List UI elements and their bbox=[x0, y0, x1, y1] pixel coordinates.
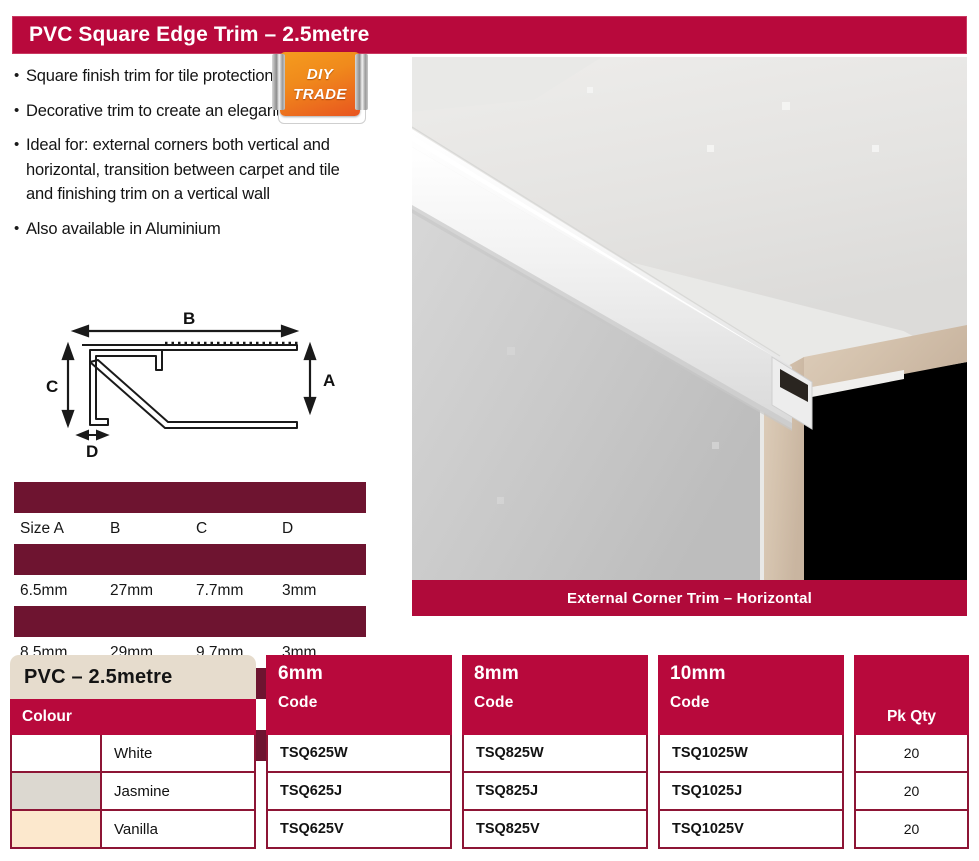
table-rule bbox=[14, 544, 366, 575]
diy-trade-badge: DIY TRADE bbox=[272, 52, 368, 124]
badge-trade-label: TRADE bbox=[272, 86, 368, 103]
product-code-cell[interactable]: TSQ825V bbox=[462, 811, 648, 849]
order-table-6mm-block: 6mm Code TSQ625W TSQ625J TSQ625V bbox=[266, 655, 452, 851]
feature-text: Decorative trim to create an elegant loo… bbox=[26, 99, 314, 124]
product-code-cell[interactable]: TSQ1025J bbox=[658, 773, 844, 811]
product-code-cell[interactable]: TSQ625V bbox=[266, 811, 452, 849]
product-photo bbox=[412, 57, 967, 580]
table-row: 6.5mm 27mm 7.7mm 3mm bbox=[14, 575, 366, 606]
trim-cross-section bbox=[82, 345, 297, 428]
colour-name: Vanilla bbox=[102, 811, 256, 849]
code-sublabel: Code bbox=[658, 685, 844, 712]
product-code-cell[interactable]: TSQ825W bbox=[462, 735, 648, 773]
code-sublabel: Code bbox=[266, 685, 452, 712]
code-sublabel: Code bbox=[462, 685, 648, 712]
diagram-label-b: B bbox=[183, 309, 195, 328]
table-row[interactable]: Vanilla bbox=[10, 811, 256, 849]
bullet-icon: • bbox=[14, 217, 26, 242]
profile-diagram-svg: B A C D bbox=[20, 300, 360, 470]
badge-diy-label: DIY bbox=[272, 66, 368, 83]
product-photo-illustration bbox=[412, 57, 967, 580]
size-col-header-a: Size A bbox=[14, 513, 110, 544]
size-header-10mm: 10mm Code bbox=[658, 655, 844, 735]
pk-qty-cell: 20 bbox=[854, 773, 969, 811]
table-row[interactable]: White bbox=[10, 735, 256, 773]
photo-caption-text: External Corner Trim – Horizontal bbox=[567, 590, 812, 607]
photo-caption: External Corner Trim – Horizontal bbox=[412, 580, 967, 616]
size-col-header-b: B bbox=[110, 513, 196, 544]
dimension-c-arrow bbox=[63, 345, 73, 425]
diagram-label-c: C bbox=[46, 377, 58, 396]
order-table: PVC – 2.5metre Colour White Jasmine Vani… bbox=[10, 655, 969, 851]
feature-text: Also available in Aluminium bbox=[26, 217, 221, 242]
size-header-label: 10mm bbox=[658, 655, 844, 685]
page-title: PVC Square Edge Trim – 2.5metre bbox=[29, 23, 369, 47]
colour-swatch-vanilla bbox=[10, 811, 102, 849]
colour-name: Jasmine bbox=[102, 773, 256, 811]
order-table-10mm-block: 10mm Code TSQ1025W TSQ1025J TSQ1025V bbox=[658, 655, 844, 851]
bullet-icon: • bbox=[14, 64, 26, 89]
profile-diagram: B A C D bbox=[20, 300, 360, 470]
size-col-header-d: D bbox=[282, 513, 366, 544]
table-header-row: Size A B C D bbox=[14, 513, 366, 544]
size-header-label: 6mm bbox=[266, 655, 452, 685]
feature-text: Square finish trim for tile protection bbox=[26, 64, 273, 89]
colour-name: White bbox=[102, 735, 256, 773]
list-item: • Also available in Aluminium bbox=[14, 217, 354, 242]
table-rule bbox=[14, 482, 366, 513]
colour-swatch-white bbox=[10, 735, 102, 773]
feature-text: Ideal for: external corners both vertica… bbox=[26, 133, 354, 207]
product-code-cell[interactable]: TSQ1025V bbox=[658, 811, 844, 849]
product-code-cell[interactable]: TSQ825J bbox=[462, 773, 648, 811]
table-rule bbox=[14, 606, 366, 637]
size-col-header-c: C bbox=[196, 513, 282, 544]
colour-swatch-jasmine bbox=[10, 773, 102, 811]
dimension-a-arrow bbox=[305, 345, 315, 412]
size-cell-b: 27mm bbox=[110, 575, 196, 606]
product-code-cell[interactable]: TSQ625W bbox=[266, 735, 452, 773]
size-cell-c: 7.7mm bbox=[196, 575, 282, 606]
bullet-icon: • bbox=[14, 99, 26, 124]
order-table-8mm-block: 8mm Code TSQ825W TSQ825J TSQ825V bbox=[462, 655, 648, 851]
pk-qty-header: Pk Qty bbox=[854, 655, 969, 735]
badge-plate bbox=[280, 52, 360, 116]
order-table-colour-block: PVC – 2.5metre Colour White Jasmine Vani… bbox=[10, 655, 256, 851]
list-item: • Ideal for: external corners both verti… bbox=[14, 133, 354, 207]
page-title-bar: PVC Square Edge Trim – 2.5metre bbox=[12, 16, 967, 54]
size-header-6mm: 6mm Code bbox=[266, 655, 452, 735]
pk-qty-cell: 20 bbox=[854, 811, 969, 849]
size-cell-d: 3mm bbox=[282, 575, 366, 606]
product-code-cell[interactable]: TSQ625J bbox=[266, 773, 452, 811]
diagram-label-d: D bbox=[86, 442, 98, 461]
dimension-d-arrow bbox=[78, 431, 107, 439]
size-header-8mm: 8mm Code bbox=[462, 655, 648, 735]
product-title: PVC – 2.5metre bbox=[10, 655, 256, 699]
colour-column-header: Colour bbox=[10, 699, 256, 735]
product-code-cell[interactable]: TSQ1025W bbox=[658, 735, 844, 773]
table-row[interactable]: Jasmine bbox=[10, 773, 256, 811]
diagram-label-a: A bbox=[323, 371, 335, 390]
pk-qty-cell: 20 bbox=[854, 735, 969, 773]
size-header-label: 8mm bbox=[462, 655, 648, 685]
bullet-icon: • bbox=[14, 133, 26, 207]
order-table-pkqty-block: Pk Qty 20 20 20 bbox=[854, 655, 969, 851]
size-cell-a: 6.5mm bbox=[14, 575, 110, 606]
